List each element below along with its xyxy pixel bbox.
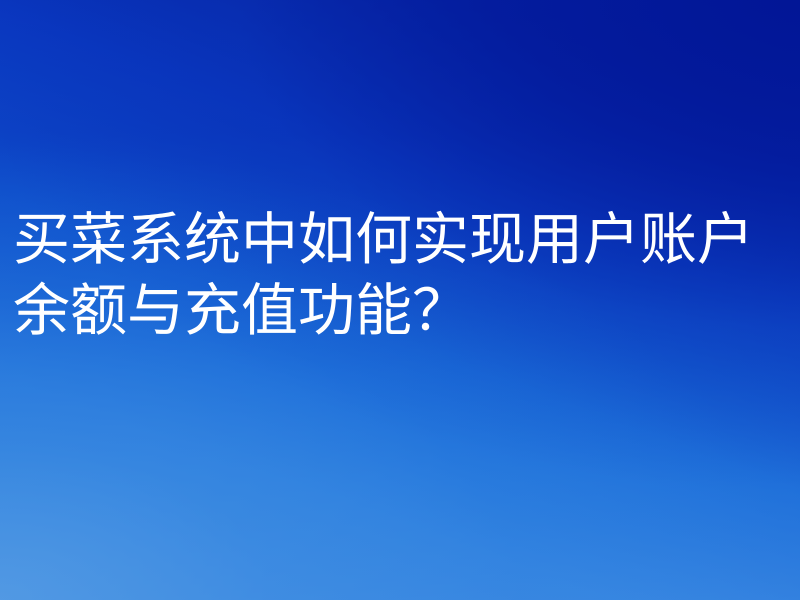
headline-line-1: 买菜系统中如何实现用户账户 [13,205,800,276]
headline-line-2: 余额与充值功能？ [13,276,800,347]
headline-block: 买菜系统中如何实现用户账户 余额与充值功能？ [13,205,800,347]
cover-canvas: 买菜系统中如何实现用户账户 余额与充值功能？ [0,0,800,600]
